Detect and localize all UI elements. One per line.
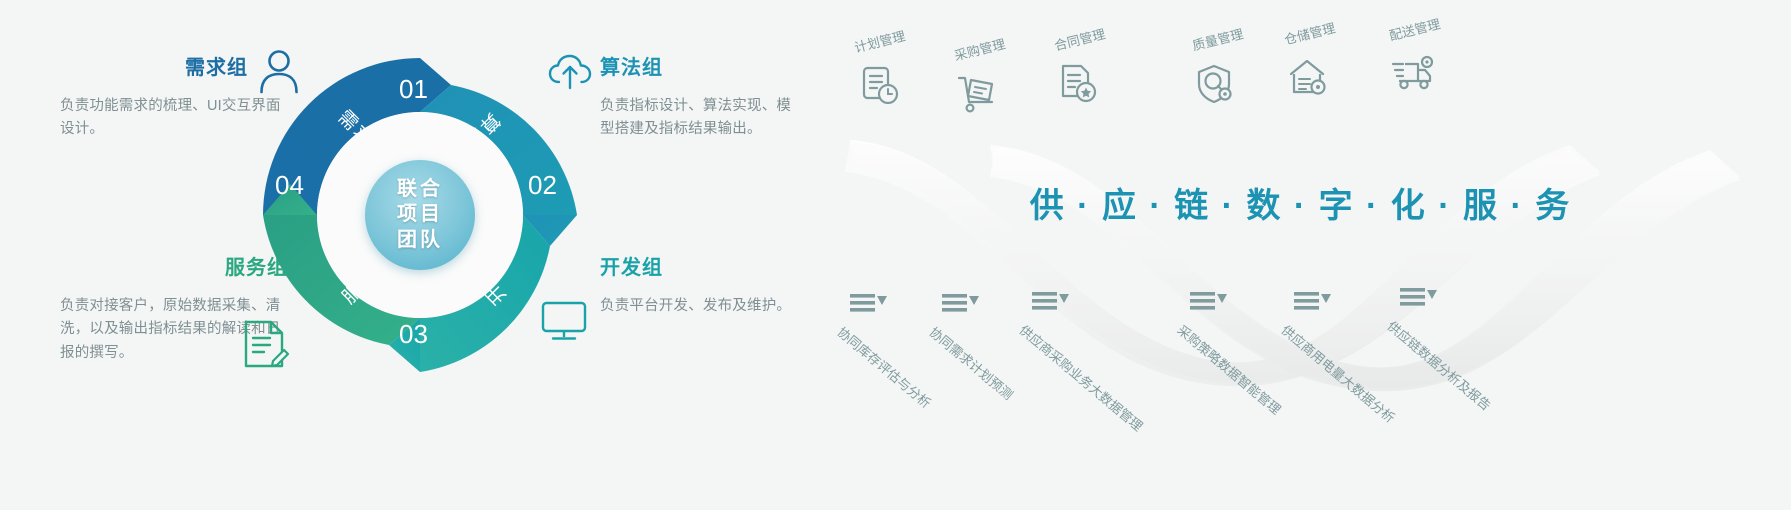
- bars-dropdown-icon: [1294, 290, 1332, 316]
- group-title-development: 开发组: [600, 258, 800, 278]
- supply-chain-headline: 供 · 应 · 链 · 数 · 字 · 化 · 服 · 务: [810, 178, 1791, 227]
- warehouse-gear-icon: [1288, 58, 1330, 98]
- bars-dropdown-icon: [942, 292, 980, 318]
- team-structure-panel: 需求组 负责功能需求的梳理、UI交互界面设计。 服务组 负责对接客户，原始数据采…: [0, 0, 810, 510]
- group-desc-development: 负责平台开发、发布及维护。: [600, 295, 800, 318]
- supply-chain-panel: 供 · 应 · 链 · 数 · 字 · 化 · 服 · 务 计划管理 采购管理: [810, 0, 1791, 510]
- donut-number-03: 03: [399, 319, 428, 349]
- cart-box-icon: [956, 74, 998, 114]
- contract-star-icon: [1058, 64, 1098, 104]
- team-donut-chart: 01 02 03 04 需求组 算法组 开发组 服务组 联合 项目 团队: [255, 50, 585, 380]
- donut-number-04: 04: [275, 170, 304, 200]
- bars-dropdown-icon: [1032, 290, 1070, 316]
- group-block-algorithm: 算法组 负责指标设计、算法实现、模型搭建及指标结果输出。: [600, 58, 800, 142]
- donut-core-circle: [365, 160, 475, 270]
- group-title-algorithm: 算法组: [600, 58, 800, 78]
- infographic-page: 需求组 负责功能需求的梳理、UI交互界面设计。 服务组 负责对接客户，原始数据采…: [0, 0, 1791, 510]
- donut-number-02: 02: [528, 170, 557, 200]
- document-clock-icon: [860, 66, 900, 106]
- shield-gear-icon: [1196, 64, 1236, 106]
- group-block-development: 开发组 负责平台开发、发布及维护。: [600, 258, 800, 318]
- bars-dropdown-icon: [850, 292, 888, 318]
- truck-gear-icon: [1391, 54, 1437, 92]
- donut-number-01: 01: [399, 74, 428, 104]
- bars-dropdown-icon: [1400, 286, 1438, 312]
- group-desc-algorithm: 负责指标设计、算法实现、模型搭建及指标结果输出。: [600, 95, 800, 142]
- bars-dropdown-icon: [1190, 290, 1228, 316]
